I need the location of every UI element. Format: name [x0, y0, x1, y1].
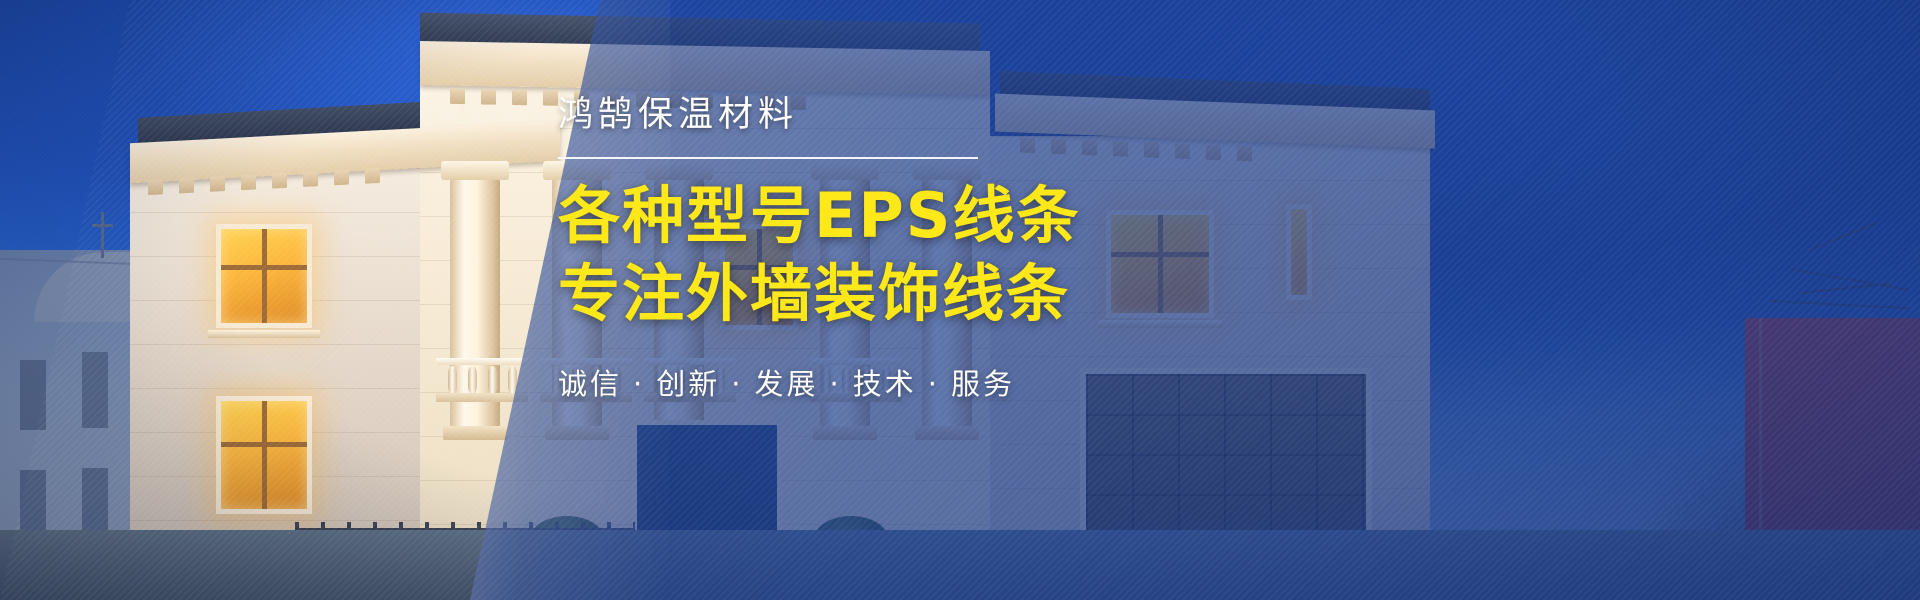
- slogan-item: 诚信: [558, 367, 622, 401]
- slogan-list: 诚信·创新·发展·技术·服务: [558, 361, 1318, 403]
- slogan-item: 创新: [656, 367, 720, 401]
- headline-line-1: 各种型号EPS线条: [558, 177, 1318, 255]
- divider-rule: [558, 157, 978, 159]
- slogan-separator: ·: [731, 367, 743, 401]
- slogan-separator: ·: [633, 367, 645, 401]
- brand-name: 鸿鹄保温材料: [558, 96, 1318, 135]
- slogan-item: 技术: [853, 367, 917, 401]
- banner-copy: 鸿鹄保温材料 各种型号EPS线条 专注外墙装饰线条 诚信·创新·发展·技术·服务: [558, 96, 1318, 403]
- headline-line-2: 专注外墙装饰线条: [558, 255, 1318, 333]
- promo-banner: 鸿鹄保温材料 各种型号EPS线条 专注外墙装饰线条 诚信·创新·发展·技术·服务: [0, 0, 1920, 600]
- slogan-item: 发展: [754, 367, 818, 401]
- slogan-item: 服务: [951, 367, 1015, 401]
- slogan-separator: ·: [928, 367, 940, 401]
- slogan-separator: ·: [829, 367, 841, 401]
